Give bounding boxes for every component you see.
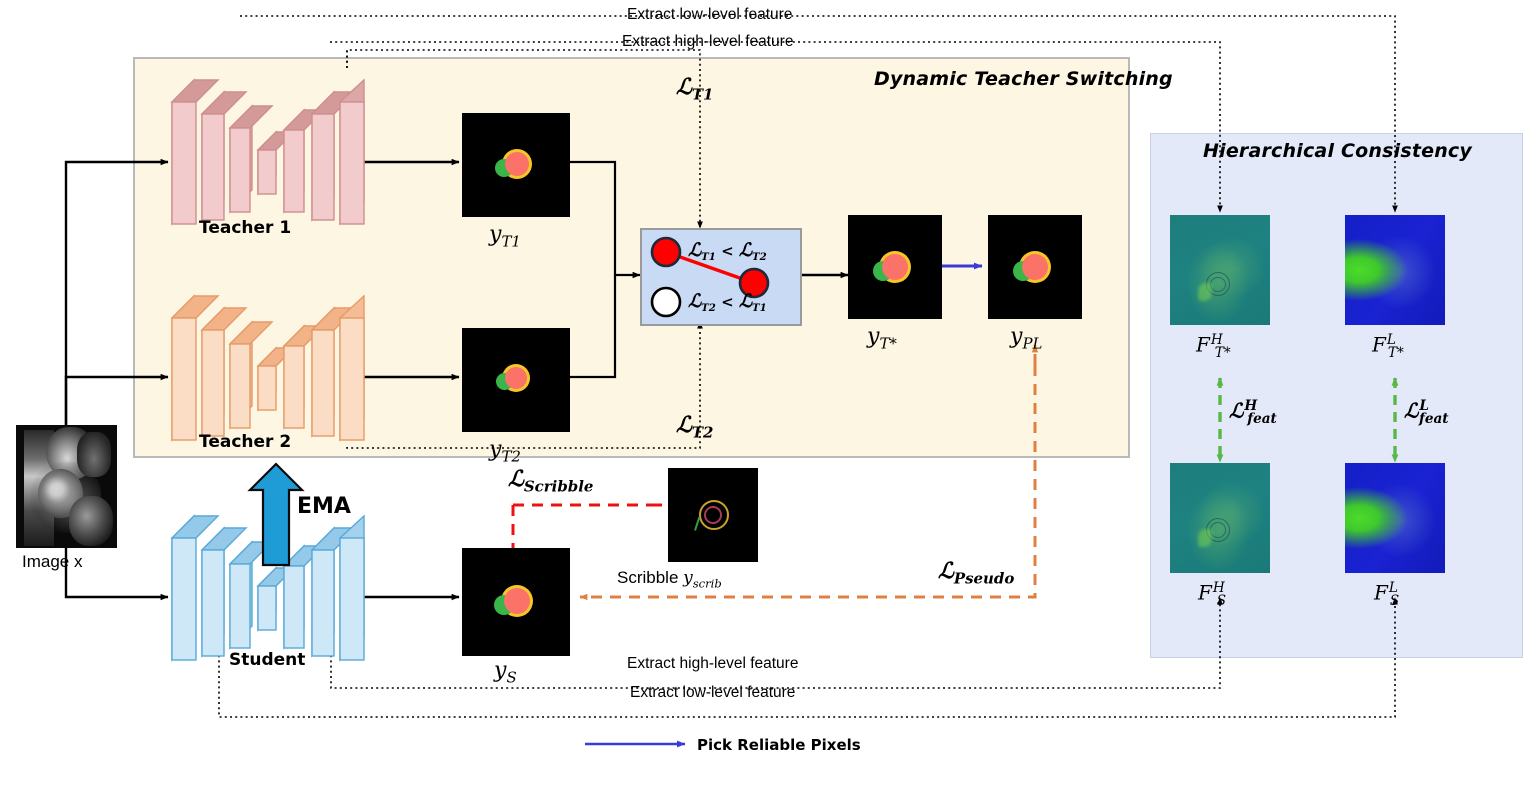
loss-l-feat-l: ℒLfeat [1404,398,1458,427]
loss-l-feat-h: ℒHfeat [1229,398,1286,427]
loss-l-t2: ℒT2 [676,412,713,441]
feature-map-ft-star-l [1345,215,1445,325]
extract-low-level-top-label: Extract low-level feature [627,6,792,24]
feature-map-ft-star-h [1170,215,1270,325]
loss-l-scribble: ℒScribble [508,466,593,495]
switch-box-graph [0,0,1523,799]
extract-high-level-top-label: Extract high-level feature [622,33,793,51]
ft-star-l-label: FLT* [1372,332,1411,361]
feature-map-fs-l [1345,463,1445,573]
figure-canvas: Dynamic Teacher Switching Hierarchical C… [0,0,1523,799]
ft-star-h-label: FHT* [1196,332,1238,361]
extract-high-level-bottom-label: Extract high-level feature [627,655,798,673]
fs-l-label: FLS [1374,580,1406,609]
legend-pick-reliable-pixels: Pick Reliable Pixels [697,736,861,754]
switch-condition-2: ℒT2 < ℒT1 [688,291,767,314]
loss-l-pseudo: ℒPseudo [938,558,1014,587]
extract-low-level-bottom-label: Extract low-level feature [630,684,795,702]
feature-map-fs-h [1170,463,1270,573]
switch-condition-1: ℒT1 < ℒT2 [688,240,767,263]
loss-l-t1: ℒT1 [676,74,713,103]
fs-h-label: FHS [1198,580,1233,609]
